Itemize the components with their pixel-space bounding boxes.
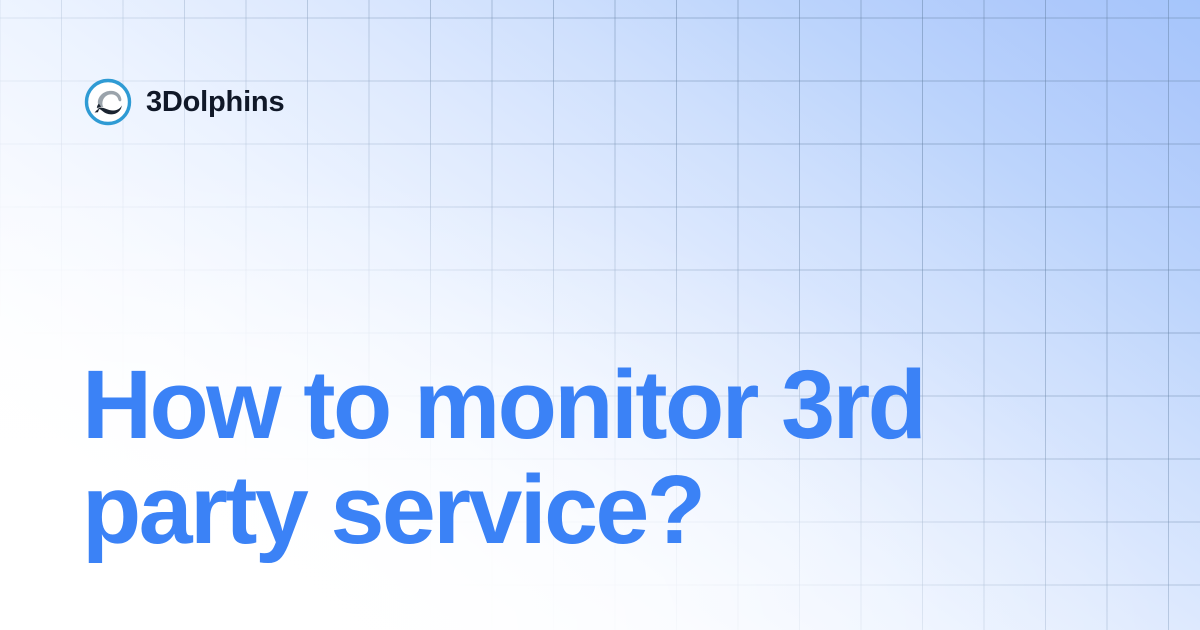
og-card: 3Dolphins How to monitor 3rd party servi… xyxy=(0,0,1200,630)
dolphins-circle-logo-icon xyxy=(84,78,132,126)
brand-lockup: 3Dolphins xyxy=(84,78,284,126)
headline-title: How to monitor 3rd party service? xyxy=(82,352,1142,562)
card-content: 3Dolphins How to monitor 3rd party servi… xyxy=(0,0,1200,630)
brand-name: 3Dolphins xyxy=(146,88,284,117)
